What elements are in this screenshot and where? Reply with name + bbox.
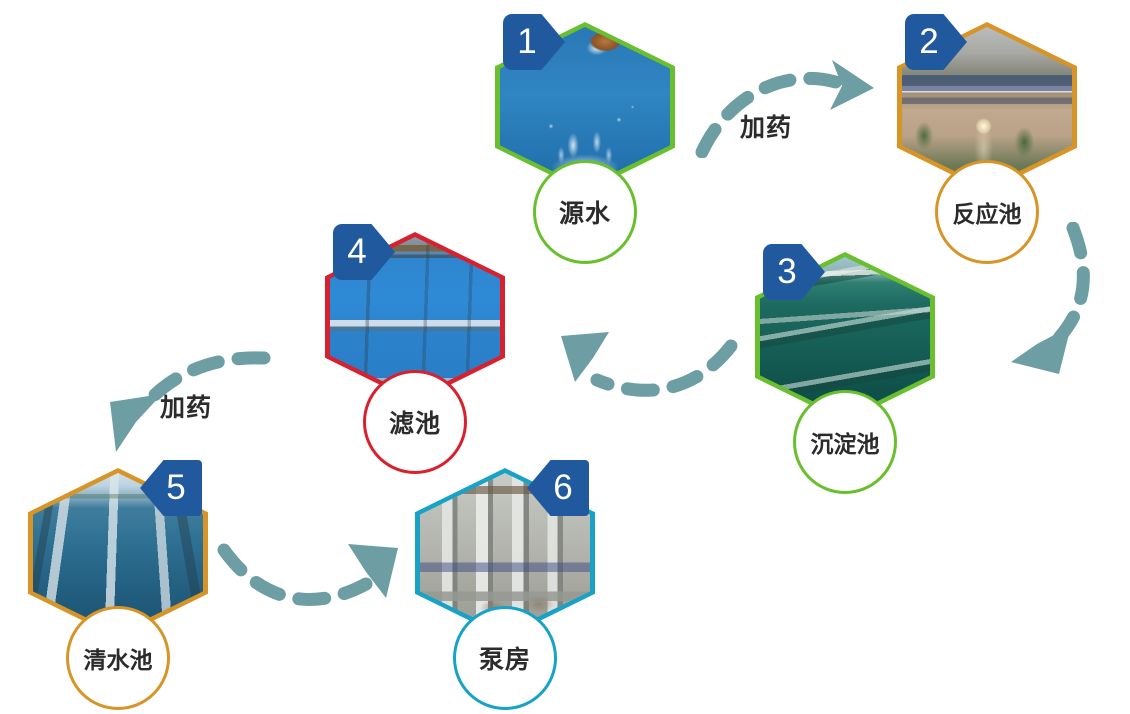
step-4-number-badge: 4	[333, 224, 395, 280]
arrow-4-to-5-label: 加药	[160, 388, 212, 424]
step-node-6[interactable]: 6 泵房	[415, 468, 595, 664]
step-5-number: 5	[140, 460, 202, 516]
step-1-caption: 源水	[533, 160, 637, 264]
step-5-number-badge: 5	[140, 460, 202, 516]
step-6-caption: 泵房	[453, 606, 557, 710]
step-6-number: 6	[527, 460, 589, 516]
step-6-label: 泵房	[479, 640, 531, 676]
arrow-1-to-2-label: 加药	[740, 108, 792, 144]
step-6-number-badge: 6	[527, 460, 589, 516]
step-5-caption: 清水池	[66, 606, 170, 710]
step-3-number: 3	[763, 244, 825, 300]
step-node-4[interactable]: 4 滤池	[325, 232, 505, 428]
step-4-number: 4	[333, 224, 395, 280]
step-1-number: 1	[503, 14, 565, 70]
step-2-number-badge: 2	[905, 14, 967, 70]
step-2-number: 2	[905, 14, 967, 70]
step-4-caption: 滤池	[363, 370, 467, 474]
step-node-2[interactable]: 2 反应池	[897, 22, 1077, 218]
process-flow-diagram: 加药 加药 1 源水	[0, 0, 1130, 714]
step-node-3[interactable]: 3 沉淀池	[755, 252, 935, 448]
step-3-number-badge: 3	[763, 244, 825, 300]
arrow-3-to-4	[535, 318, 745, 418]
step-1-label: 源水	[559, 194, 611, 230]
step-3-label: 沉淀池	[811, 425, 880, 459]
step-2-caption: 反应池	[935, 160, 1039, 264]
step-2-label: 反应池	[953, 195, 1022, 229]
step-node-5[interactable]: 5 清水池	[28, 468, 208, 664]
step-5-label: 清水池	[84, 641, 153, 675]
step-1-number-badge: 1	[503, 14, 565, 70]
step-node-1[interactable]: 1 源水	[495, 22, 675, 218]
step-4-label: 滤池	[389, 404, 441, 440]
arrow-1-to-2	[690, 48, 900, 158]
step-3-caption: 沉淀池	[793, 390, 897, 494]
arrow-5-to-6	[210, 528, 420, 638]
